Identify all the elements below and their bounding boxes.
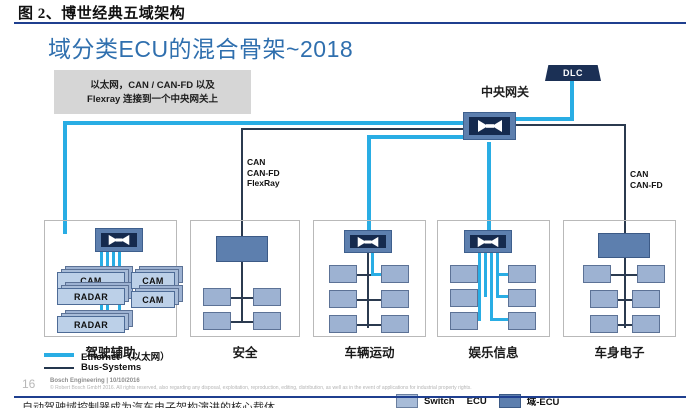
domain-label-vehicle-motion: 车辆运动 [313,342,426,361]
wire-info-bundle-1 [478,253,481,319]
ecu-body-6 [632,315,660,333]
ecu-body-1 [583,265,611,283]
wire-drop-driver-assistance [63,121,67,234]
domain-ecu-safety [216,236,268,262]
switch-infotainment [464,230,512,253]
switch-chip-driver-assistance [101,233,137,247]
ethernet-line-swatch [44,353,74,357]
domain-label-safety: 安全 [190,342,300,361]
wire-bus-body-horizontal [516,124,626,126]
ecu-safety-1 [203,288,231,306]
wire-trunk-ethernet [63,121,513,125]
slide-canvas: 域分类ECU的混合骨架~2018 以太网，CAN / CAN-FD 以及 Fle… [0,24,700,394]
footer-title: Bosch Engineering | 10/10/2016 [50,378,140,384]
bus-line-swatch [44,367,74,369]
callout-text: 以太网，CAN / CAN-FD 以及 Flexray 连接到一个中央网关上 [54,79,251,107]
page-number: 16 [22,377,35,391]
domain-label-infotainment: 娱乐信息 [437,342,550,361]
switch-bowtie-icon [476,236,500,248]
switch-vehicle-motion [344,230,392,253]
ecu-body-4 [632,290,660,308]
sensor-label-radar: RADAR [57,288,125,305]
switch-bowtie-icon [477,119,503,133]
ecu-infotainment-5 [450,312,478,330]
ecu-body-3 [590,290,618,308]
sensor-stack-radar-left-2: RADAR [57,310,137,334]
wire-info-bundle-2 [484,253,487,297]
domain-label-body-electronics: 车身电子 [563,342,676,361]
gateway-chip [469,117,510,135]
ethernet-legend-label: Ethernet （以太网） [81,349,170,363]
wire-dlc-to-gateway [508,117,574,121]
ecu-body-2 [637,265,665,283]
dlc-label: DLC [563,68,583,78]
ecu-vehicle-motion-5 [329,315,357,333]
switch-bowtie-icon [356,236,380,248]
ecu-infotainment-6 [508,312,536,330]
footer-copyright: © Robert Bosch GmbH 2016. All rights res… [50,385,472,391]
bottom-body-text: 自动驾驶域控制器成为汽车电子架构演进的核心载体。 [22,399,286,408]
ecu-vehicle-motion-2 [381,265,409,283]
bus-note-safety: CAN CAN-FD FlexRay [247,157,280,189]
figure-root: 图 2、博世经典五域架构 域分类ECU的混合骨架~2018 以太网，CAN / … [0,0,700,408]
bus-legend-label: Bus-Systems [81,362,141,373]
sensor-stack-radar-left-1: RADAR [57,282,137,306]
central-gateway-switch [463,112,516,140]
ecu-infotainment-2 [508,265,536,283]
switch-chip-vehicle-motion [350,235,386,248]
bus-note-body: CAN CAN-FD [630,169,663,190]
slide-title: 域分类ECU的混合骨架~2018 [48,30,353,64]
ecu-infotainment-1 [450,265,478,283]
callout-box: 以太网，CAN / CAN-FD 以及 Flexray 连接到一个中央网关上 [54,70,251,114]
switch-driver-assistance [95,228,143,252]
ecu-vehicle-motion-6 [381,315,409,333]
ecu-safety-4 [253,312,281,330]
switch-chip-infotainment [470,235,506,248]
ecu-infotainment-3 [450,289,478,307]
ecu-infotainment-4 [508,289,536,307]
switch-bowtie-icon [107,234,131,246]
wire-dlc-vertical [570,81,574,121]
dlc-connector: DLC [545,65,601,81]
wire-info-bundle-3 [490,253,493,319]
ecu-safety-2 [253,288,281,306]
wire-vm-spine [367,252,369,328]
ecu-body-5 [590,315,618,333]
ecu-safety-3 [203,312,231,330]
sensor-label-cam: CAM [131,291,175,308]
sensor-label-radar: RADAR [57,316,125,333]
ecu-vehicle-motion-3 [329,290,357,308]
domain-ecu-body-electronics [598,233,650,258]
bottom-divider [14,396,686,398]
figure-caption: 图 2、博世经典五域架构 [18,2,185,23]
ecu-vehicle-motion-4 [381,290,409,308]
ecu-vehicle-motion-1 [329,265,357,283]
gateway-label: 中央网关 [455,83,555,100]
